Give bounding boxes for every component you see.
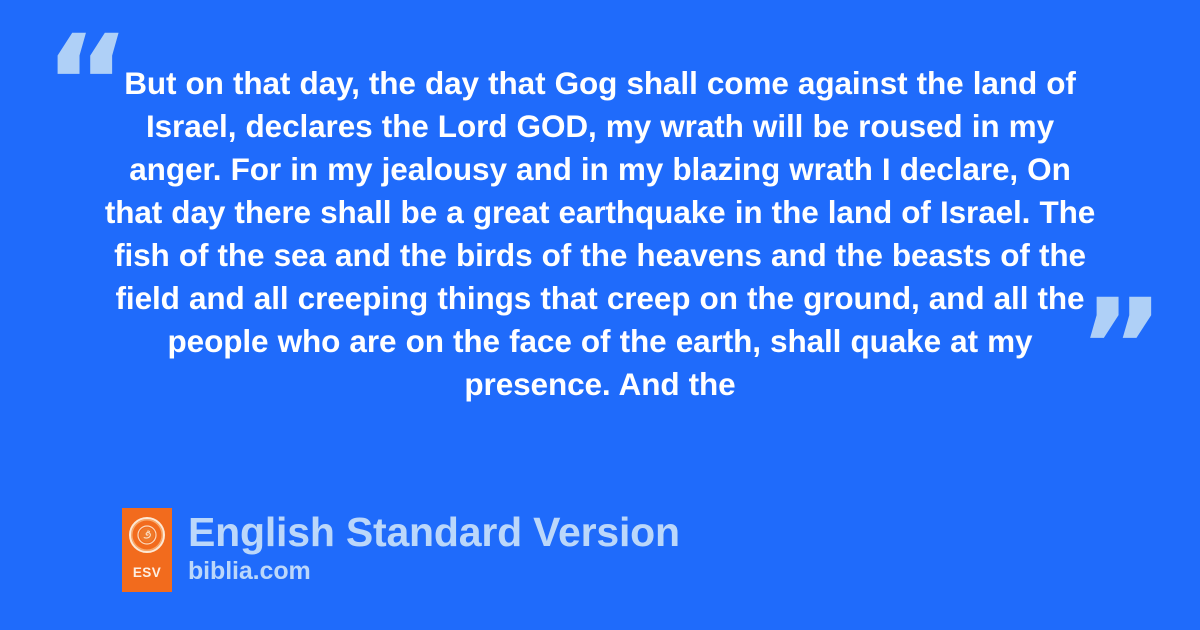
- source-website[interactable]: biblia.com: [188, 556, 680, 586]
- footer: ESV English Standard Version biblia.com: [122, 508, 680, 592]
- quote-text: But on that day, the day that Gog shall …: [100, 62, 1100, 406]
- bible-version-title: English Standard Version: [188, 509, 680, 555]
- esv-seal-icon: [129, 517, 165, 553]
- quote-card: “ But on that day, the day that Gog shal…: [0, 0, 1200, 630]
- footer-text-block: English Standard Version biblia.com: [188, 508, 680, 586]
- quote-block: But on that day, the day that Gog shall …: [100, 62, 1100, 406]
- esv-logo-abbreviation: ESV: [133, 566, 161, 580]
- esv-logo-badge: ESV: [122, 508, 172, 592]
